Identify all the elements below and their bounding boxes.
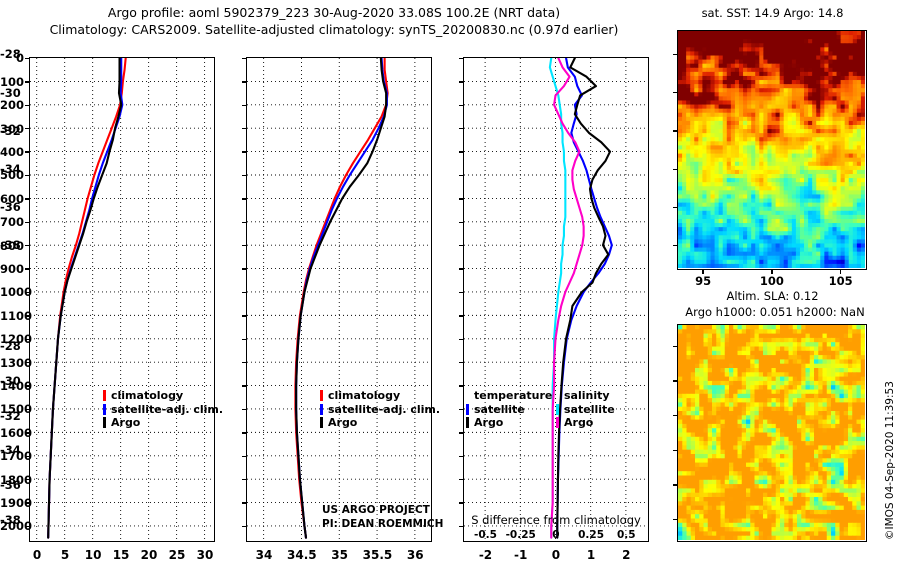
temperature-tick-label: 10 [85, 548, 102, 562]
map-longitude-tick [771, 270, 772, 274]
depth-tick-mark [242, 268, 246, 269]
legend-color-swatch [320, 390, 323, 401]
temperature-tick-label: 20 [141, 548, 158, 562]
temperature-difference-tick-label: 2 [622, 548, 630, 562]
map-latitude-label: -32 [0, 409, 672, 423]
salinity-difference-tick-label: 0.25 [578, 529, 604, 541]
legend-color-swatch [103, 390, 106, 401]
sst-map-header: sat. SST: 14.9 Argo: 14.8 [665, 6, 880, 20]
temperature-difference-tick-label: 1 [587, 548, 595, 562]
map-latitude-label: -28 [0, 339, 672, 353]
temperature-difference-tick-label: 0 [552, 548, 560, 562]
map-latitude-tick [673, 245, 677, 246]
map-latitude-label: -34 [0, 162, 672, 176]
depth-tick-label: 1300 [0, 356, 24, 370]
salinity-tick-label: 34 [256, 548, 273, 562]
depth-tick-mark [242, 105, 246, 106]
map-latitude-tick [673, 92, 677, 93]
map-latitude-label: -36 [0, 478, 672, 492]
map-latitude-label: -32 [0, 124, 672, 138]
page-title-line-1: Argo profile: aoml 5902379_223 30-Aug-20… [0, 5, 668, 20]
temperature-tick-label: 5 [61, 548, 69, 562]
depth-tick-mark [25, 222, 29, 223]
legend-item-label: climatology [328, 389, 400, 403]
depth-tick-mark [25, 502, 29, 503]
legend-item: climatology [103, 389, 223, 403]
depth-tick-mark [25, 292, 29, 293]
depth-tick-mark [25, 432, 29, 433]
map-latitude-tick [673, 380, 677, 381]
depth-tick-mark [242, 81, 246, 82]
depth-tick-mark [459, 362, 463, 363]
depth-tick-mark [25, 362, 29, 363]
legend-group-title: salinity [556, 389, 646, 403]
temperature-tick-label: 15 [113, 548, 130, 562]
legend-group-title: temperature [466, 389, 556, 403]
depth-tick-mark [25, 81, 29, 82]
depth-tick-mark [242, 151, 246, 152]
sst-map-image [678, 31, 865, 268]
sla-map-header-line2: Argo h1000: 0.051 h2000: NaN [660, 305, 890, 319]
map-latitude-label: -38 [0, 513, 672, 527]
depth-tick-mark [25, 315, 29, 316]
map-latitude-tick [673, 450, 677, 451]
depth-tick-label: 700 [0, 215, 24, 229]
depth-tick-mark [459, 105, 463, 106]
salinity-difference-tick-label: 0.5 [617, 529, 636, 541]
salinity-difference-tick-label: -0.25 [506, 529, 536, 541]
map-latitude-label: -38 [0, 238, 672, 252]
salinity-tick-label: 36 [407, 548, 424, 562]
depth-tick-label: 900 [0, 262, 24, 276]
map-latitude-label: -30 [0, 374, 672, 388]
depth-tick-label: 200 [0, 98, 24, 112]
map-longitude-tick [702, 270, 703, 274]
depth-tick-label: 1900 [0, 496, 24, 510]
map-latitude-tick [673, 169, 677, 170]
sla-map-header-line1: Altim. SLA: 0.12 [665, 289, 880, 303]
depth-tick-mark [459, 151, 463, 152]
depth-tick-label: 1600 [0, 426, 24, 440]
temperature-tick-label: 0 [33, 548, 41, 562]
legend-item: climatology [320, 389, 440, 403]
legend-item-label: climatology [111, 389, 183, 403]
map-latitude-tick [673, 346, 677, 347]
map-longitude-label: 95 [695, 274, 711, 288]
depth-tick-mark [242, 222, 246, 223]
map-latitude-label: -30 [0, 86, 672, 100]
depth-tick-mark [242, 292, 246, 293]
depth-tick-mark [459, 502, 463, 503]
map-latitude-label: -34 [0, 443, 672, 457]
depth-tick-label: 1100 [0, 309, 24, 323]
depth-tick-mark [459, 81, 463, 82]
salinity-difference-tick-label: 0 [552, 529, 559, 541]
depth-tick-mark [242, 502, 246, 503]
salinity-tick-label: 34.5 [287, 548, 317, 562]
depth-tick-mark [459, 315, 463, 316]
salinity-tick-label: 35 [331, 548, 348, 562]
salinity-difference-tick-label: -0.5 [474, 529, 497, 541]
depth-tick-label: 400 [0, 145, 24, 159]
map-latitude-tick [673, 415, 677, 416]
depth-tick-mark [242, 315, 246, 316]
sla-map-image [678, 325, 865, 540]
page-title-line-2: Climatology: CARS2009. Satellite-adjuste… [0, 22, 668, 37]
map-longitude-label: 105 [829, 274, 853, 288]
map-latitude-tick [673, 130, 677, 131]
depth-tick-mark [25, 268, 29, 269]
depth-tick-mark [25, 105, 29, 106]
map-latitude-label: -28 [0, 47, 672, 61]
depth-tick-mark [242, 362, 246, 363]
temperature-difference-tick-label: -2 [479, 548, 492, 562]
sst-map-panel [677, 30, 867, 270]
depth-tick-mark [25, 151, 29, 152]
map-latitude-label: -36 [0, 200, 672, 214]
depth-tick-mark [459, 268, 463, 269]
depth-tick-mark [242, 432, 246, 433]
map-latitude-tick [673, 207, 677, 208]
sla-map-panel [677, 324, 867, 542]
map-latitude-tick [673, 484, 677, 485]
map-longitude-label: 100 [760, 274, 784, 288]
depth-tick-mark [459, 432, 463, 433]
depth-tick-mark [459, 222, 463, 223]
imos-watermark: ©IMOS 04-Sep-2020 11:39:53 [884, 381, 896, 540]
map-longitude-tick [840, 270, 841, 274]
temperature-tick-label: 25 [169, 548, 186, 562]
depth-tick-mark [459, 292, 463, 293]
temperature-difference-tick-label: -1 [514, 548, 527, 562]
map-latitude-tick [673, 54, 677, 55]
salinity-tick-label: 35.5 [363, 548, 393, 562]
map-latitude-tick [673, 519, 677, 520]
temperature-tick-label: 30 [197, 548, 214, 562]
depth-tick-label: 1000 [0, 285, 24, 299]
